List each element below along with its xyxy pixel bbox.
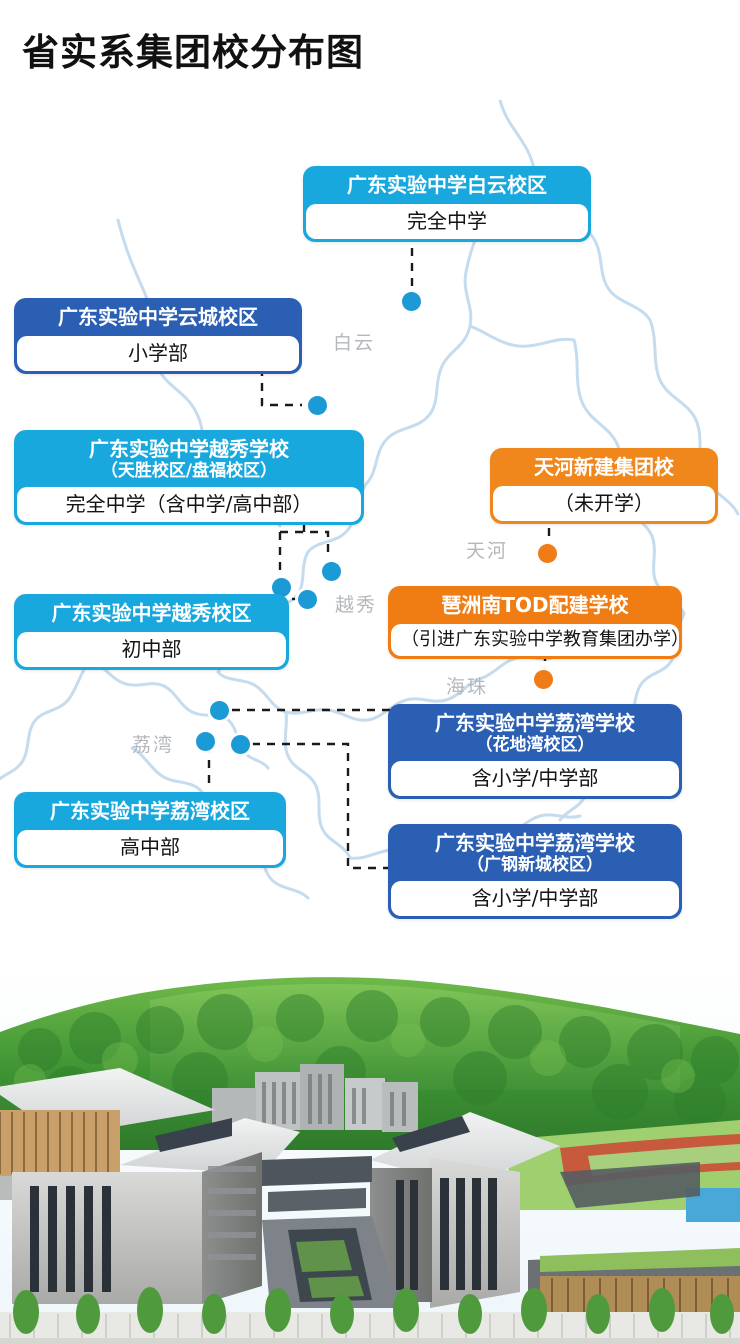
- card-body: 完全中学: [306, 204, 588, 239]
- district-label-yuexiu: 越秀: [335, 590, 377, 617]
- callout-card-tianhe[interactable]: 天河新建集团校 （未开学）: [490, 448, 718, 524]
- card-head: 广东实验中学云城校区: [17, 301, 299, 336]
- map-marker-liwan-guangang[interactable]: [231, 735, 250, 754]
- district-label-haizhu: 海珠: [446, 672, 488, 699]
- card-body: （引进广东实验中学教育集团办学）: [391, 624, 679, 657]
- card-head: 琶洲南TOD配建学校: [391, 589, 679, 624]
- card-body: 含小学/中学部: [391, 881, 679, 916]
- callout-card-liwan-guangang[interactable]: 广东实验中学荔湾学校 （广钢新城校区） 含小学/中学部: [388, 824, 682, 919]
- campus-aerial-photo: [0, 960, 740, 1344]
- card-title: 广东实验中学荔湾校区: [27, 800, 273, 824]
- card-subtitle: （广钢新城校区）: [401, 855, 669, 875]
- card-title: 琶洲南TOD配建学校: [401, 594, 669, 618]
- map-marker-tianhe[interactable]: [538, 544, 557, 563]
- infographic-page: 省实系集团校分布图: [0, 0, 740, 1344]
- card-title: 广东实验中学荔湾学校: [401, 832, 669, 856]
- card-title: 广东实验中学荔湾学校: [401, 712, 669, 736]
- card-subtitle: （天胜校区/盘福校区）: [27, 461, 351, 481]
- card-title: 广东实验中学越秀校区: [27, 602, 276, 626]
- callout-card-yuncheng[interactable]: 广东实验中学云城校区 小学部: [14, 298, 302, 374]
- map-marker-liwan-huadiwan[interactable]: [210, 701, 229, 720]
- card-head: 广东实验中学荔湾校区: [17, 795, 283, 830]
- callout-card-yuexiu-campus[interactable]: 广东实验中学越秀校区 初中部: [14, 594, 289, 670]
- district-label-tianhe: 天河: [466, 536, 508, 563]
- card-body: （未开学）: [493, 486, 715, 521]
- card-body: 高中部: [17, 830, 283, 865]
- card-head: 广东实验中学白云校区: [306, 169, 588, 204]
- callout-card-tod[interactable]: 琶洲南TOD配建学校 （引进广东实验中学教育集团办学）: [388, 586, 682, 659]
- callout-card-liwan-campus[interactable]: 广东实验中学荔湾校区 高中部: [14, 792, 286, 868]
- callout-card-yuexiu-school[interactable]: 广东实验中学越秀学校 （天胜校区/盘福校区） 完全中学（含中学/高中部）: [14, 430, 364, 525]
- card-head: 天河新建集团校: [493, 451, 715, 486]
- card-title: 天河新建集团校: [503, 456, 705, 480]
- callout-card-baiyun[interactable]: 广东实验中学白云校区 完全中学: [303, 166, 591, 242]
- map-marker-baiyun[interactable]: [402, 292, 421, 311]
- card-subtitle: （花地湾校区）: [401, 735, 669, 755]
- map-marker-yuexiu-school[interactable]: [322, 562, 341, 581]
- district-label-baiyun: 白云: [333, 328, 375, 355]
- card-title: 广东实验中学白云校区: [316, 174, 578, 198]
- card-body: 初中部: [17, 632, 286, 667]
- card-body: 完全中学（含中学/高中部）: [17, 487, 361, 522]
- map-marker-yuexiu-extra[interactable]: [298, 590, 317, 609]
- card-title: 广东实验中学越秀学校: [27, 438, 351, 462]
- map-marker-liwan-campus[interactable]: [196, 732, 215, 751]
- card-head: 广东实验中学荔湾学校 （广钢新城校区）: [391, 827, 679, 881]
- card-body: 含小学/中学部: [391, 761, 679, 796]
- card-title: 广东实验中学云城校区: [27, 306, 289, 330]
- card-body: 小学部: [17, 336, 299, 371]
- card-head: 广东实验中学越秀学校 （天胜校区/盘福校区）: [17, 433, 361, 487]
- map-marker-yuncheng[interactable]: [308, 396, 327, 415]
- district-label-liwan: 荔湾: [132, 730, 174, 757]
- callout-card-liwan-huadiwan[interactable]: 广东实验中学荔湾学校 （花地湾校区） 含小学/中学部: [388, 704, 682, 799]
- card-head: 广东实验中学越秀校区: [17, 597, 286, 632]
- page-title: 省实系集团校分布图: [22, 22, 364, 76]
- card-head: 广东实验中学荔湾学校 （花地湾校区）: [391, 707, 679, 761]
- map-marker-haizhu-tod[interactable]: [534, 670, 553, 689]
